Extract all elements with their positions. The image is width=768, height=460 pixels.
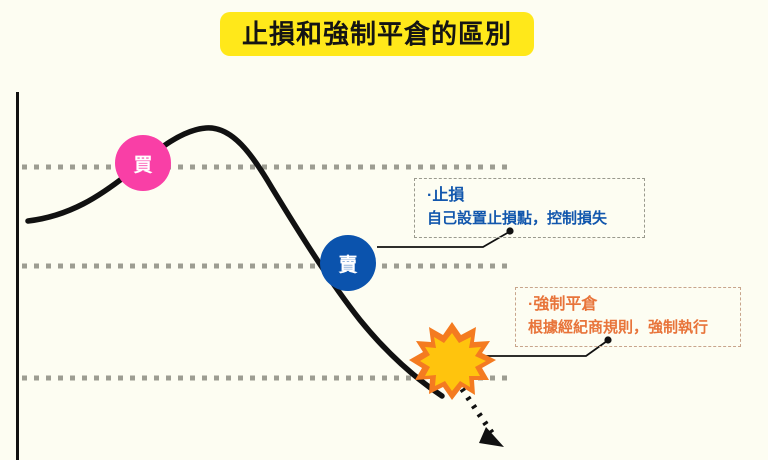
explosion-burst-icon [409, 322, 496, 400]
sell-marker[interactable]: 賣 [320, 235, 376, 291]
chart-scene [0, 0, 768, 460]
price-curve [28, 128, 442, 396]
page-title-text: 止損和強制平倉的區別 [242, 21, 512, 47]
buy-marker-label: 買 [133, 150, 152, 177]
callout-stop-loss: ·止損 自己設置止損點，控制損失 [414, 178, 645, 238]
callout-stop-loss-heading: ·止損 [427, 186, 634, 206]
infographic-canvas: 止損和強制平倉的區別 買 賣 ·止損 自己設置止損點，控制損失 ·強制平倉 根據… [0, 0, 768, 460]
buy-marker[interactable]: 買 [115, 135, 171, 191]
down-right-dotted-arrow-icon [462, 389, 504, 447]
callout-stop-loss-body: 自己設置止損點，控制損失 [427, 209, 634, 229]
callout-forced-liquidation-body: 根據經紀商規則，強制執行 [528, 318, 730, 338]
page-title: 止損和強制平倉的區別 [220, 12, 534, 56]
sell-marker-label: 賣 [338, 250, 357, 277]
callout-forced-liquidation-heading: ·強制平倉 [528, 295, 730, 315]
callout-forced-liquidation: ·強制平倉 根據經紀商規則，強制執行 [515, 287, 741, 347]
